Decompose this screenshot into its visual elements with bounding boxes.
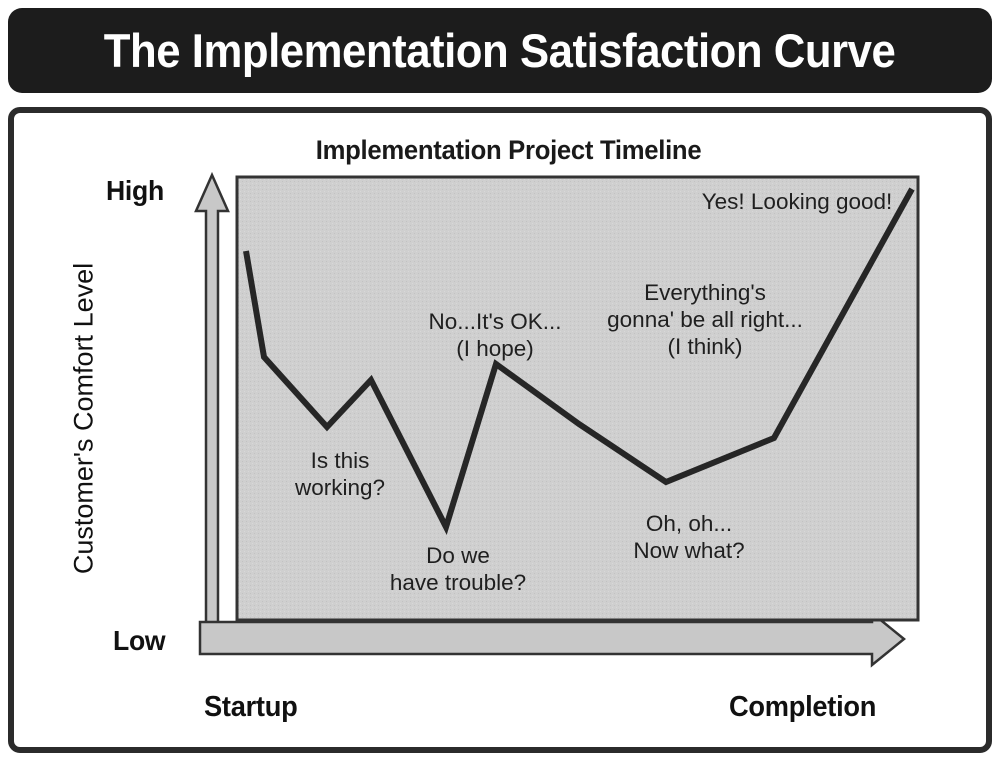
annotation-line: (I think) [667, 334, 742, 359]
annotation-line: (I hope) [456, 336, 534, 361]
page-title: The Implementation Satisfaction Curve [104, 27, 896, 74]
annotation-line: No...It's OK... [428, 309, 561, 334]
annotation-line: Oh, oh... [646, 511, 732, 536]
annotation-line: gonna' be all right... [607, 307, 803, 332]
chart-frame: Implementation Project Timeline High Low… [8, 107, 992, 753]
annotation-line: Do we [426, 543, 490, 568]
annotation-line: Now what? [633, 538, 744, 563]
plot-area [237, 177, 918, 620]
annotation-line: have trouble? [390, 570, 526, 595]
annotation-line: Is this [311, 448, 370, 473]
annotation-line: Everything's [644, 280, 766, 305]
annotation-yes-looking-good: Yes! Looking good! [702, 189, 893, 214]
y-axis-arrow [196, 175, 228, 633]
annotation-line: Yes! Looking good! [702, 189, 893, 214]
title-banner: The Implementation Satisfaction Curve [8, 8, 992, 93]
annotation-line: working? [294, 475, 385, 500]
satisfaction-curve-chart: Is this working? Do we have trouble? No.… [14, 113, 986, 747]
